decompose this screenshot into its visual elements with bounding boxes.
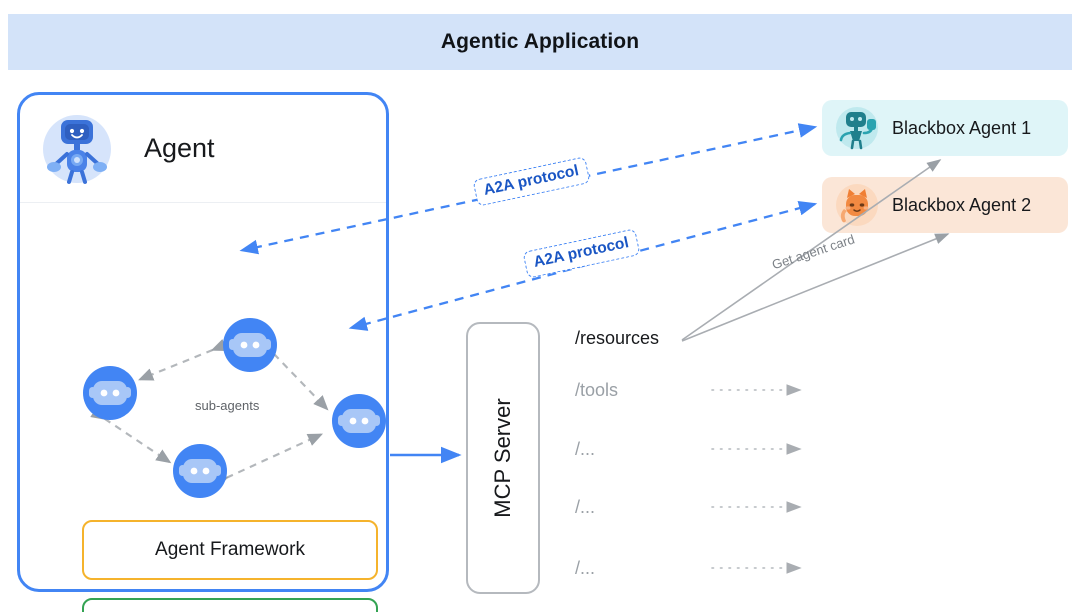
- diagram-canvas: Agentic Application: [0, 0, 1080, 612]
- sub-agent-node[interactable]: [172, 443, 228, 499]
- endpoint-label: /tools: [575, 380, 695, 401]
- sub-agent-node[interactable]: [331, 393, 387, 449]
- blackbox-agent-2-card[interactable]: Blackbox Agent 2: [822, 177, 1068, 233]
- endpoint-row-other-1[interactable]: /...: [575, 437, 695, 461]
- a2a-protocol-chip-2: A2A protocol: [522, 228, 640, 278]
- get-agent-card-label: Get agent card: [770, 231, 856, 272]
- endpoint-label: /...: [575, 558, 695, 579]
- blackbox-agent-2-label: Blackbox Agent 2: [892, 195, 1031, 216]
- agent-panel: Agent: [17, 92, 389, 592]
- robot-avatar-icon: [40, 112, 114, 186]
- orange-fox-avatar-icon: [834, 182, 880, 228]
- blackbox-agent-1-card[interactable]: Blackbox Agent 1: [822, 100, 1068, 156]
- sub-agent-node[interactable]: [222, 317, 278, 373]
- page-title: Agentic Application: [441, 30, 639, 54]
- llm-box[interactable]: LLM: [82, 598, 378, 612]
- mcp-server-box[interactable]: MCP Server: [466, 322, 540, 594]
- endpoint-row-resources[interactable]: /resources: [575, 326, 695, 350]
- agent-framework-label: Agent Framework: [155, 539, 305, 561]
- agent-title: Agent: [144, 133, 215, 164]
- sub-agent-node[interactable]: [82, 365, 138, 421]
- endpoint-label: /...: [575, 497, 695, 518]
- endpoint-row-tools[interactable]: /tools: [575, 378, 695, 402]
- a2a-protocol-chip-1: A2A protocol: [472, 156, 590, 206]
- agent-panel-header: Agent: [20, 95, 386, 203]
- endpoint-row-other-3[interactable]: /...: [575, 556, 695, 580]
- header-banner: Agentic Application: [8, 14, 1072, 70]
- mcp-server-label: MCP Server: [490, 398, 516, 517]
- agent-framework-box[interactable]: Agent Framework: [82, 520, 378, 580]
- endpoint-row-other-2[interactable]: /...: [575, 495, 695, 519]
- blackbox-agent-1-label: Blackbox Agent 1: [892, 118, 1031, 139]
- endpoint-label: /resources: [575, 328, 695, 349]
- subagents-label: sub-agents: [195, 398, 259, 413]
- teal-robot-avatar-icon: [834, 105, 880, 151]
- endpoint-label: /...: [575, 439, 695, 460]
